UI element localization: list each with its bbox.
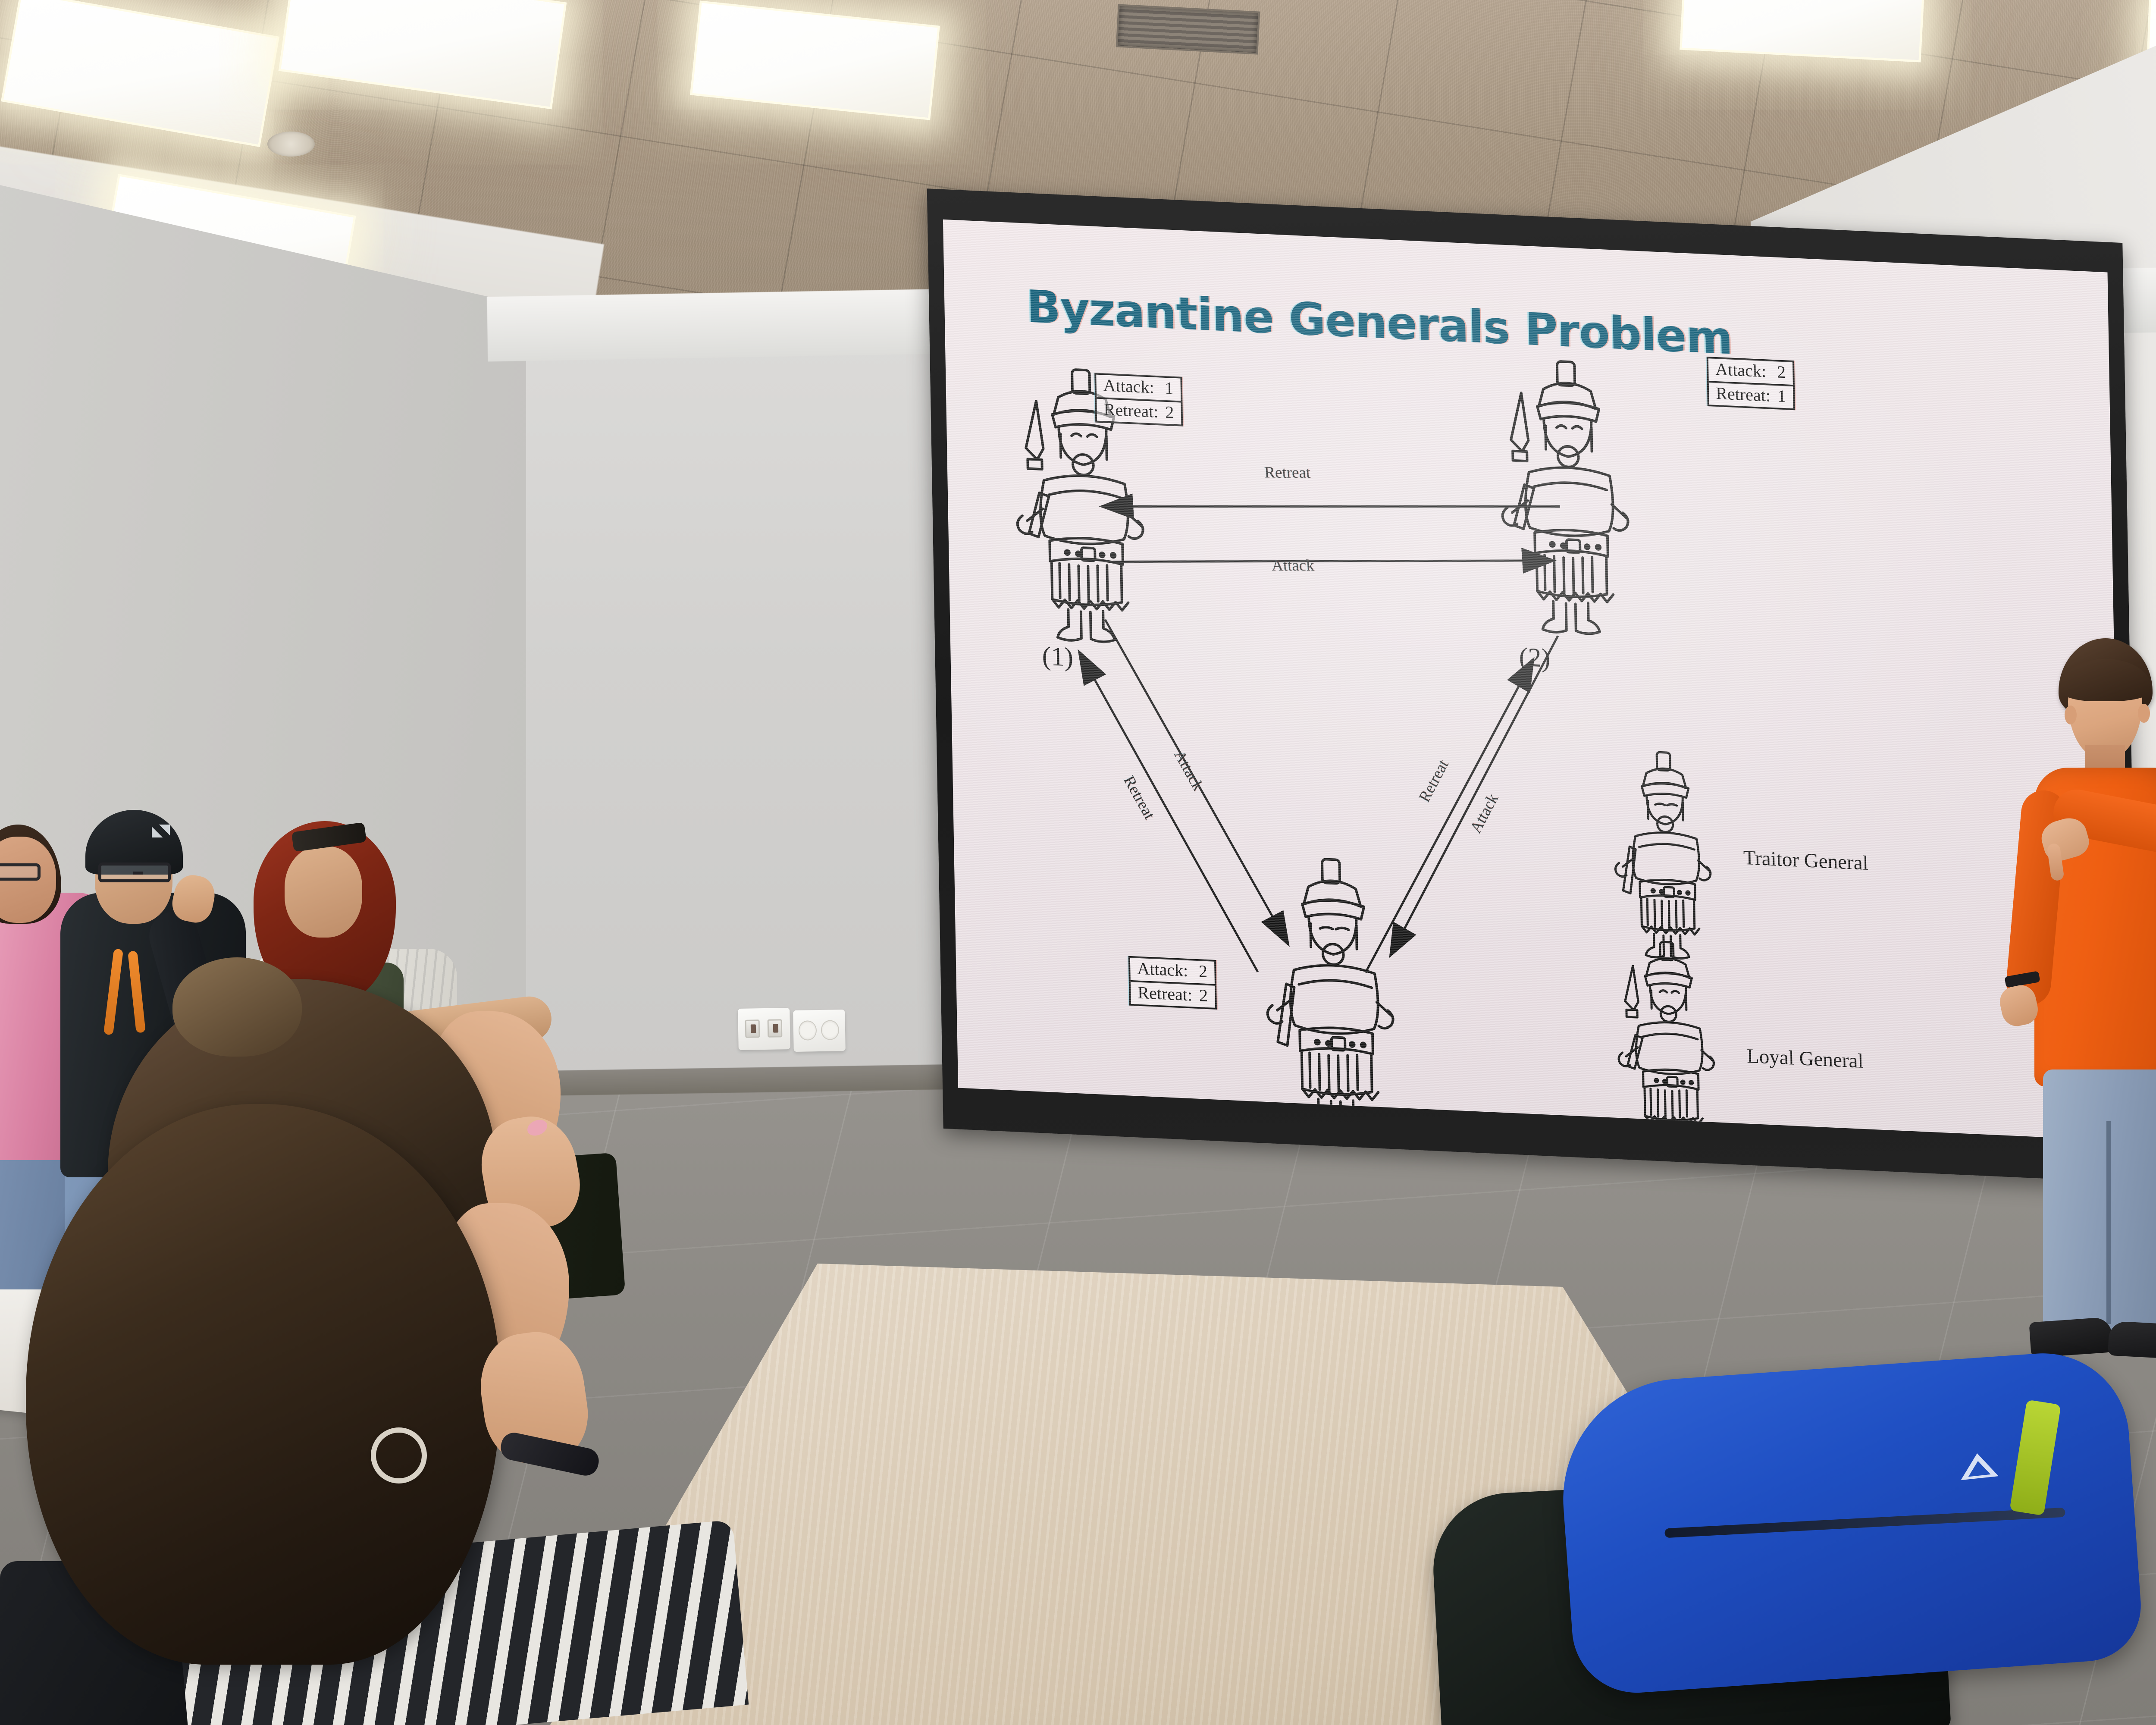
screen-surface: Byzantine Generals Problem (943, 220, 2123, 1141)
retreat-label: Retreat: (1103, 400, 1158, 420)
general-2-state-box: Attack: 2 Retreat: 1 (1707, 357, 1795, 410)
ceiling-air-vent (1116, 4, 1260, 54)
general-3-retreat-row: Retreat: 2 (1131, 982, 1215, 1008)
beanie-logo-icon (152, 825, 170, 837)
byzantine-generals-diagram: Attack: 1 Retreat: 2 Attack: 2 (943, 220, 2123, 1141)
general-2-retreat-row: Retreat: 1 (1709, 383, 1793, 408)
audience-pink-glasses (0, 863, 41, 881)
node-label-1: (1) (1042, 641, 1074, 673)
lecture-room-scene: Byzantine Generals Problem (0, 0, 2156, 1725)
attack-value: 2 (1199, 962, 1208, 980)
attack-label: Attack: (1137, 960, 1188, 980)
presentation-slide: Byzantine Generals Problem (943, 220, 2123, 1141)
audience-beanie-glasses (98, 862, 171, 882)
presenter-right-shoe (2108, 1321, 2156, 1360)
power-cable-floor (1984, 841, 2156, 1315)
legend-figure-traitor (1603, 745, 1728, 966)
power-socket-icon (821, 1020, 840, 1040)
attack-label: Attack: (1103, 376, 1154, 396)
hoop-earring (371, 1427, 427, 1483)
ethernet-jack-icon (768, 1019, 783, 1038)
ethernet-jack-icon (745, 1019, 760, 1038)
retreat-value: 2 (1165, 403, 1174, 421)
general-1-attack-row: Attack: 1 (1096, 375, 1181, 402)
presenter-ear (2065, 706, 2077, 724)
power-socket-icon (799, 1020, 817, 1041)
ceiling-speaker-icon (267, 132, 315, 157)
foreground-hair-bun (172, 957, 302, 1057)
attack-value: 2 (1777, 363, 1786, 381)
backpack-brand-logo (1925, 1426, 2029, 1487)
general-3-attack-row: Attack: 2 (1130, 958, 1215, 985)
general-3-state-box: Attack: 2 Retreat: 2 (1128, 956, 1217, 1010)
wall-power-socket-plate[interactable] (793, 1010, 846, 1052)
foreground-striped-hair (26, 1104, 500, 1665)
backpack-logo-triangle-icon (1958, 1451, 1999, 1480)
presenter-left-shoe (2029, 1317, 2113, 1358)
projection-screen: Byzantine Generals Problem (927, 188, 2139, 1183)
general-figure-3 (1252, 850, 1416, 1141)
audience-redhair-head (285, 846, 362, 938)
node-label-2: (2) (1519, 642, 1551, 674)
general-1-retreat-row: Retreat: 2 (1097, 398, 1181, 424)
general-2-attack-row: Attack: 2 (1708, 358, 1793, 386)
legend-figure-loyal (1607, 935, 1731, 1141)
attack-value: 1 (1165, 379, 1174, 397)
retreat-value: 1 (1777, 387, 1786, 405)
presenter-ear (2138, 704, 2150, 723)
wall-data-jack-plate[interactable] (738, 1008, 790, 1050)
retreat-label: Retreat: (1138, 983, 1192, 1004)
edge-label-1-to-2-attack: Attack (1271, 556, 1315, 575)
edge-label-2-to-1-retreat: Retreat (1264, 463, 1311, 482)
general-figure-2 (1486, 352, 1651, 644)
retreat-value: 2 (1199, 986, 1208, 1004)
retreat-label: Retreat: (1716, 384, 1771, 405)
general-1-state-box: Attack: 1 Retreat: 2 (1094, 373, 1183, 426)
attack-label: Attack: (1715, 360, 1767, 380)
